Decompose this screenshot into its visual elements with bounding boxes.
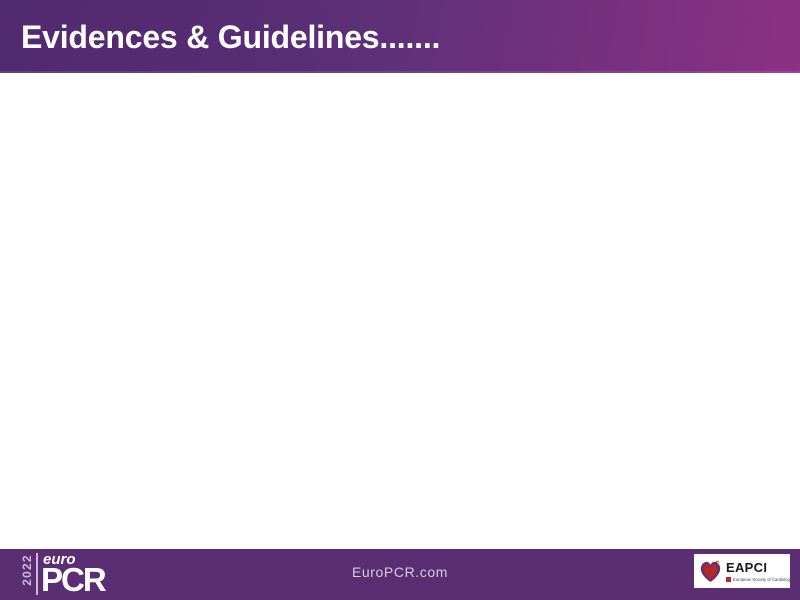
esc-square-icon bbox=[726, 577, 731, 582]
slide-content-area bbox=[0, 73, 800, 549]
slide-header-bar: Evidences & Guidelines....... bbox=[0, 0, 800, 73]
eapci-name: EAPCI bbox=[726, 561, 792, 575]
eapci-subtitle: European Society of Cardiology bbox=[733, 577, 792, 582]
eapci-text-block: EAPCI European Society of Cardiology bbox=[726, 561, 792, 582]
heart-with-arrow-icon bbox=[698, 559, 723, 584]
eapci-subtitle-row: European Society of Cardiology bbox=[726, 577, 792, 582]
footer-website-text: EuroPCR.com bbox=[0, 564, 800, 580]
eapci-logo: EAPCI European Society of Cardiology bbox=[694, 554, 790, 588]
presentation-slide: Evidences & Guidelines....... 2022 euro … bbox=[0, 0, 800, 600]
slide-title: Evidences & Guidelines....... bbox=[21, 17, 440, 57]
